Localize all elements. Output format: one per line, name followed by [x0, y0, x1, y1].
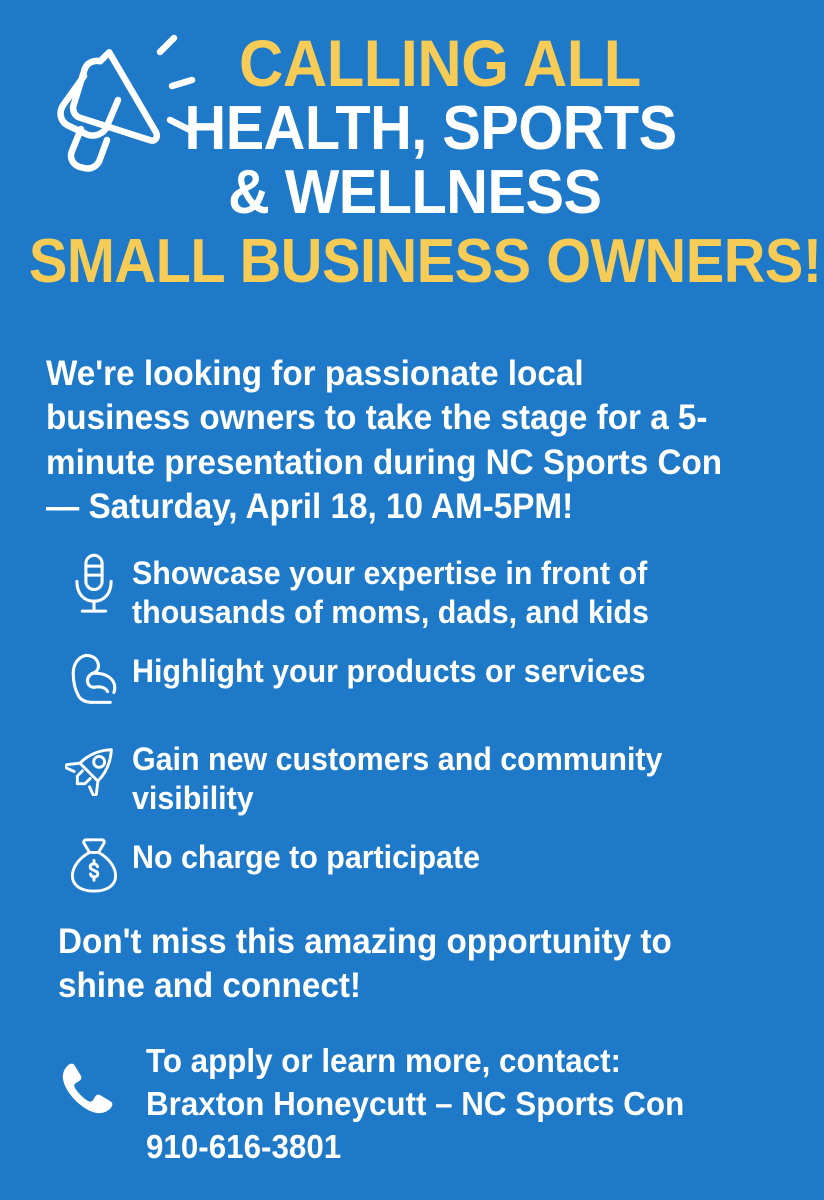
contact-block: To apply or learn more, contact: Braxton… — [56, 1040, 796, 1169]
headline-line-4: SMALL BUSINESS OWNERS! — [29, 230, 795, 293]
list-item-label: Showcase your expertise in front of thou… — [132, 548, 763, 632]
intro-paragraph: We're looking for passionate local busin… — [46, 352, 730, 530]
benefits-list: Showcase your expertise in front of thou… — [56, 548, 796, 920]
list-item: No charge to participate — [56, 832, 796, 906]
closing-statement: Don't miss this amazing opportunity to s… — [58, 920, 723, 1009]
headline-line-2: HEALTH, SPORTS — [29, 97, 795, 160]
contact-line-2: Braxton Honeycutt – NC Sports Con — [146, 1083, 764, 1126]
list-item-label: Gain new customers and community visibil… — [132, 734, 763, 818]
contact-phone-number: 910-616-3801 — [146, 1126, 764, 1169]
headline-line-1: CALLING ALL — [29, 30, 795, 97]
microphone-icon — [56, 548, 132, 622]
money-bag-icon — [56, 832, 132, 906]
rocket-icon — [56, 734, 132, 808]
list-item-label: Highlight your products or services — [132, 646, 763, 691]
flexed-bicep-icon — [56, 646, 132, 720]
phone-icon — [56, 1040, 146, 1125]
list-item: Highlight your products or services — [56, 646, 796, 720]
list-item: Gain new customers and community visibil… — [56, 734, 796, 818]
headline-line-3: & WELLNESS — [29, 161, 795, 224]
flyer-poster: CALLING ALL HEALTH, SPORTS & WELLNESS SM… — [0, 0, 824, 1200]
contact-line-1: To apply or learn more, contact: — [146, 1040, 764, 1083]
list-item-label: No charge to participate — [132, 832, 763, 877]
list-item: Showcase your expertise in front of thou… — [56, 548, 796, 632]
contact-details: To apply or learn more, contact: Braxton… — [146, 1040, 764, 1169]
headline-block: CALLING ALL HEALTH, SPORTS & WELLNESS SM… — [0, 30, 824, 293]
